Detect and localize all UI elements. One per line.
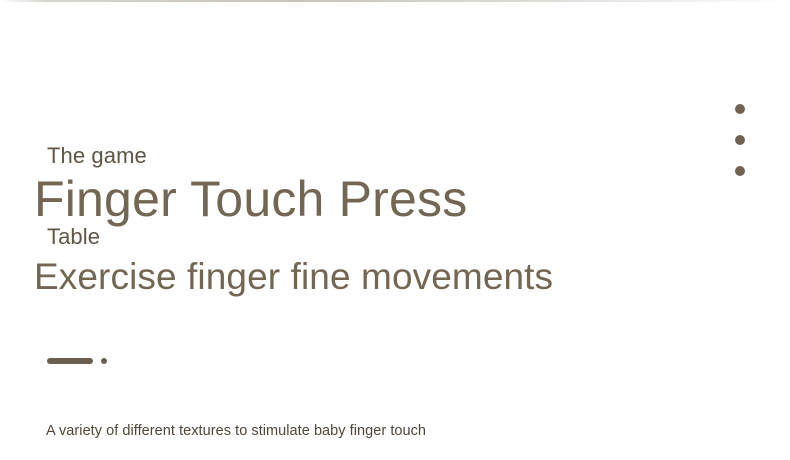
divider-dot-icon (101, 358, 107, 364)
top-edge-rule (0, 0, 790, 2)
page-dot-icon-2[interactable] (735, 135, 745, 145)
eyebrow-line-1: The game (47, 142, 147, 169)
caption-text: A variety of different textures to stimu… (46, 421, 426, 441)
page-title: Finger Touch Press (34, 170, 467, 228)
page-subtitle: Exercise finger fine movements (34, 254, 553, 300)
page-indicator-dots[interactable] (735, 104, 747, 180)
page-dot-icon-1[interactable] (735, 104, 745, 114)
divider-bar-icon (47, 358, 93, 364)
divider-decoration (47, 355, 117, 367)
page-dot-icon-3[interactable] (735, 166, 745, 176)
slide-canvas: The game Table Finger Touch Press Exerci… (0, 0, 790, 460)
